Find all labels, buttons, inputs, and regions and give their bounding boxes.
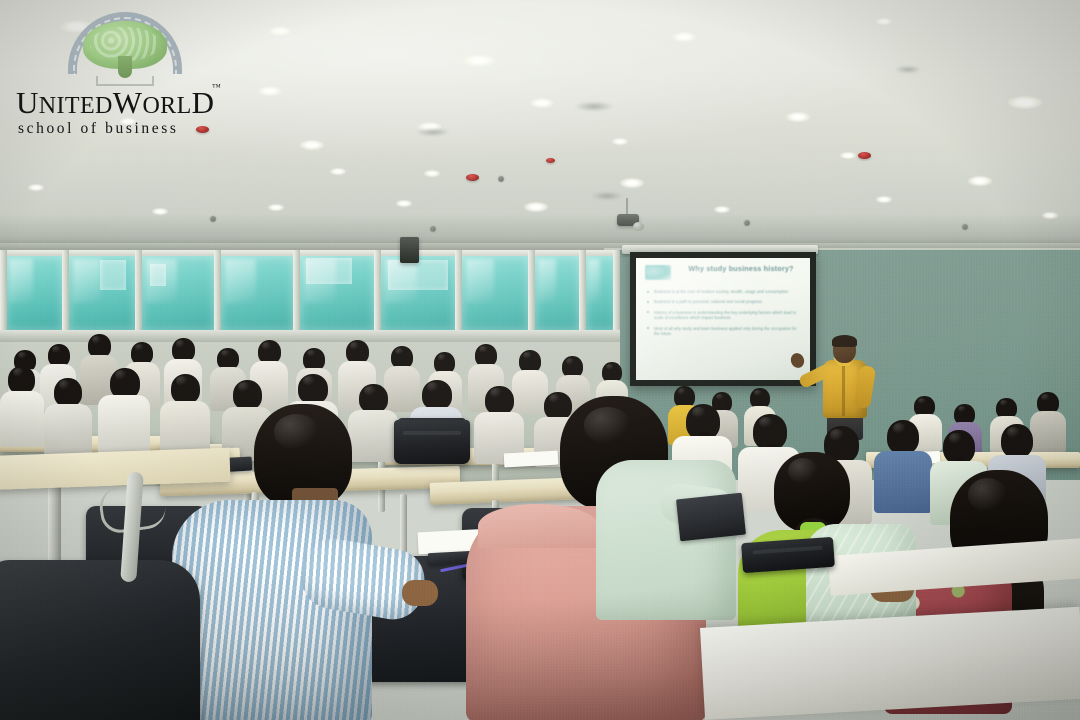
logo-wordmark: UNITEDWORLD bbox=[16, 86, 230, 123]
ceiling-light bbox=[396, 200, 412, 207]
ceiling-vent bbox=[576, 102, 612, 111]
ceiling-light bbox=[530, 98, 554, 108]
student-torso bbox=[596, 460, 736, 620]
tree-trunk-icon bbox=[118, 56, 132, 78]
ceiling-light bbox=[714, 206, 730, 213]
ceiling-light bbox=[1008, 96, 1042, 109]
sprinkler-icon bbox=[498, 176, 504, 182]
slide-bullet: Business is at the core of modern societ… bbox=[646, 289, 802, 294]
ceiling-light bbox=[330, 168, 346, 175]
student bbox=[44, 378, 92, 452]
ceiling-light bbox=[840, 152, 856, 159]
glass-pane bbox=[221, 256, 293, 330]
ceiling-light bbox=[672, 32, 696, 42]
chair bbox=[0, 560, 200, 720]
student bbox=[98, 368, 150, 452]
smoke-detector-icon bbox=[466, 174, 479, 181]
ceiling-light bbox=[786, 112, 810, 122]
ceiling-light bbox=[612, 138, 628, 145]
slide-bullet: History of a business is understanding t… bbox=[646, 310, 802, 321]
ceiling-light bbox=[268, 26, 292, 36]
ceiling-light bbox=[876, 196, 892, 203]
lecture-hall-photo: Why study business history? Business is … bbox=[0, 0, 1080, 720]
tablet bbox=[676, 493, 746, 542]
ceiling-light bbox=[268, 204, 284, 211]
ceiling-light bbox=[524, 202, 548, 212]
presenter-speaker bbox=[805, 336, 891, 432]
ceiling-light bbox=[876, 18, 892, 25]
window-blind bbox=[150, 264, 166, 286]
glass-pane bbox=[586, 256, 616, 330]
smoke-detector-icon bbox=[858, 152, 871, 159]
ceiling-light bbox=[424, 170, 440, 177]
slide-bullet: Most of all why study and learn business… bbox=[646, 326, 802, 337]
slide-bullet-list: Business is at the core of modern societ… bbox=[646, 289, 802, 341]
logo-word-part: W bbox=[113, 85, 143, 120]
glass-pane bbox=[6, 256, 62, 330]
ceiling-light bbox=[968, 176, 992, 186]
window-blind bbox=[388, 260, 448, 290]
glass-pane bbox=[462, 256, 528, 330]
student-mint-shirt bbox=[596, 460, 736, 620]
laptop-bag bbox=[394, 420, 470, 464]
glass-pane bbox=[535, 256, 579, 330]
logo-trademark: ™ bbox=[212, 82, 221, 92]
student bbox=[0, 366, 44, 444]
ceiling-vent bbox=[418, 128, 448, 136]
ceiling-vent bbox=[896, 66, 920, 73]
wall-mounted-speaker bbox=[400, 237, 419, 263]
projection-screen: Why study business history? Business is … bbox=[630, 252, 810, 380]
logo-mark-icon bbox=[68, 12, 182, 86]
slide-title: Why study business history? bbox=[680, 264, 802, 273]
window-blind bbox=[306, 258, 352, 284]
unitedworld-logo: UNITEDWORLD ™ school of business bbox=[16, 12, 230, 138]
ceiling-light bbox=[462, 54, 496, 67]
student-hand bbox=[402, 580, 438, 606]
logo-word-part: U bbox=[16, 85, 39, 120]
slide-bullet: Business is a path to personal, national… bbox=[646, 299, 802, 304]
smoke-detector-icon bbox=[546, 158, 555, 163]
logo-word-part: ORL bbox=[142, 93, 191, 119]
ceiling-light bbox=[28, 184, 44, 191]
logo-tagline: school of business bbox=[18, 120, 232, 138]
ceiling-light bbox=[258, 86, 282, 96]
laptop bbox=[741, 537, 835, 573]
ceiling-light bbox=[300, 140, 324, 150]
slide-corner-logo bbox=[645, 265, 671, 280]
ceiling-light bbox=[620, 178, 644, 188]
logo-word-part: NITED bbox=[39, 93, 113, 119]
glass-partition-wall bbox=[0, 250, 620, 342]
window-blind bbox=[100, 260, 126, 290]
